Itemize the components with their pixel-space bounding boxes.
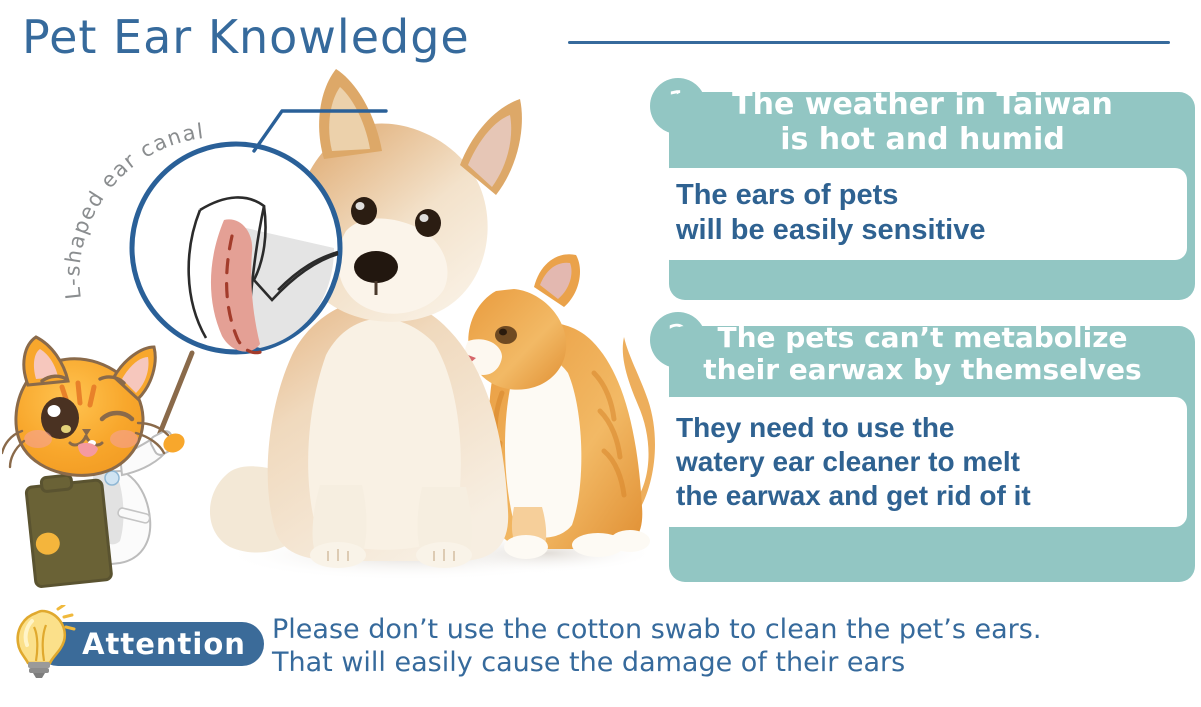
card-2-body-line-2: watery ear cleaner to melt (676, 445, 1183, 479)
card-1-header-line-1: The weather in Taiwan (666, 88, 1179, 123)
attention-text-line-1: Please don’t use the cotton swab to clea… (272, 614, 1172, 647)
card-2-header-line-2: their earwax by themselves (666, 354, 1179, 386)
card-1-body-line-1: The ears of pets (676, 178, 1183, 213)
card-1-body: The ears of pets will be easily sensitiv… (658, 168, 1187, 261)
card-2: 2 The pets can’t metabolize their earwax… (650, 312, 1195, 582)
ear-canal-diagram (128, 140, 344, 356)
card-1-header-line-2: is hot and humid (666, 123, 1179, 158)
card-2-body-line-1: They need to use the (676, 411, 1183, 445)
card-2-body: They need to use the watery ear cleaner … (658, 397, 1187, 527)
card-1: 1 The weather in Taiwan is hot and humid… (650, 78, 1195, 300)
card-2-header-line-1: The pets can’t metabolize (666, 322, 1179, 354)
cartoon-cat-doctor (2, 335, 217, 600)
card-1-body-line-2: will be easily sensitive (676, 213, 1183, 248)
diagram-leader-line (250, 95, 390, 155)
attention-text: Please don’t use the cotton swab to clea… (272, 614, 1172, 680)
card-1-header: The weather in Taiwan is hot and humid (650, 78, 1195, 168)
infographic-canvas: Pet Ear Knowledge (0, 0, 1201, 707)
card-2-header: The pets can’t metabolize their earwax b… (650, 312, 1195, 397)
attention-text-line-2: That will easily cause the damage of the… (272, 647, 1172, 680)
lightbulb-icon (14, 605, 76, 679)
card-2-body-line-3: the earwax and get rid of it (676, 479, 1183, 513)
title-rule (568, 41, 1170, 44)
attention-row: Attention Please don’t use the cotton sw… (0, 600, 1201, 700)
